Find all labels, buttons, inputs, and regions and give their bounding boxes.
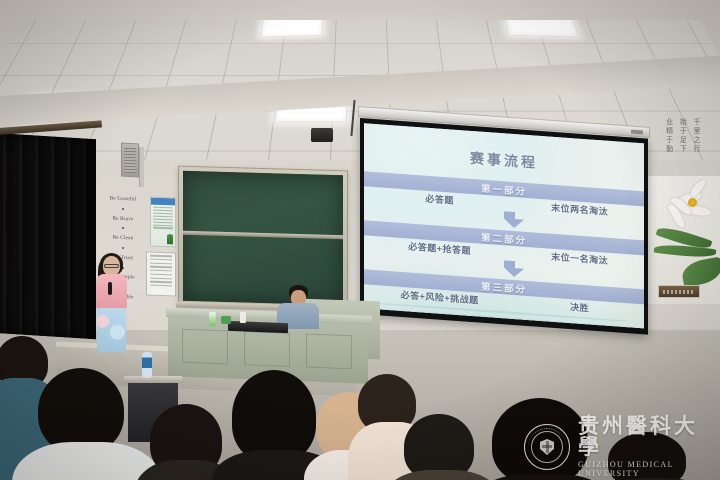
watermark-name-en: GUIZHOU MEDICAL UNIVERSITY: [578, 460, 714, 478]
orchid-flower-painting: [648, 176, 720, 304]
university-watermark: 贵州醫科大學 GUIZHOU MEDICAL UNIVERSITY: [524, 418, 714, 476]
flower-leaf: [680, 257, 720, 288]
green-chalkboard: [178, 166, 348, 311]
university-seal-icon: [524, 424, 570, 470]
chalkboard-surface: [183, 171, 343, 305]
bullet-dot-icon: [122, 247, 124, 249]
seated-host-man: [277, 285, 319, 325]
poster-plant-graphic: [167, 234, 173, 244]
wall-handwriting-line: Be Grateful: [110, 196, 137, 203]
microphone-icon: [108, 282, 112, 295]
pull-down-projection-screen: 赛事流程 第一部分 必答题 末位两名淘汰 第二部分 必答题+抢答题 末位一名淘汰…: [360, 118, 648, 335]
water-bottle: [209, 312, 216, 326]
blackout-curtain: [0, 133, 96, 339]
wall-poster-green: [150, 197, 176, 248]
wall-handwriting-line: Be Clean: [113, 235, 134, 242]
projector-mount: [311, 128, 333, 142]
painting-plaque: [658, 285, 700, 298]
wall-poster-white: [146, 251, 176, 296]
presenter-skirt: [97, 308, 126, 352]
presenter-woman: [92, 256, 132, 356]
watermark-text: 贵州醫科大學 GUIZHOU MEDICAL UNIVERSITY: [578, 416, 714, 478]
wall-handwriting-line: Be Brave: [112, 215, 133, 222]
blue-thermos-bottle: [142, 352, 152, 378]
glasses-icon: [104, 264, 119, 268]
lecture-hall-photo: Be Grateful Be Brave Be Clean Be Tried B…: [0, 0, 720, 480]
bullet-dot-icon: [122, 208, 124, 210]
chalkboard-divider: [183, 231, 343, 239]
poster-header-band: [151, 198, 175, 206]
flower-stamen: [688, 198, 697, 207]
paper-cup: [240, 312, 246, 323]
watermark-name-cn: 贵州醫科大學: [578, 416, 714, 458]
projected-slide: 赛事流程 第一部分 必答题 末位两名淘汰 第二部分 必答题+抢答题 末位一名淘汰…: [364, 123, 644, 328]
ceiling-light-panel: [261, 20, 323, 37]
desk-item-green: [221, 316, 231, 324]
side-table-top: [124, 376, 182, 383]
aircon-pipe: [139, 147, 144, 187]
bullet-dot-icon: [122, 227, 124, 229]
air-conditioner-unit: [121, 143, 139, 178]
ceiling-light-panel: [504, 20, 579, 37]
